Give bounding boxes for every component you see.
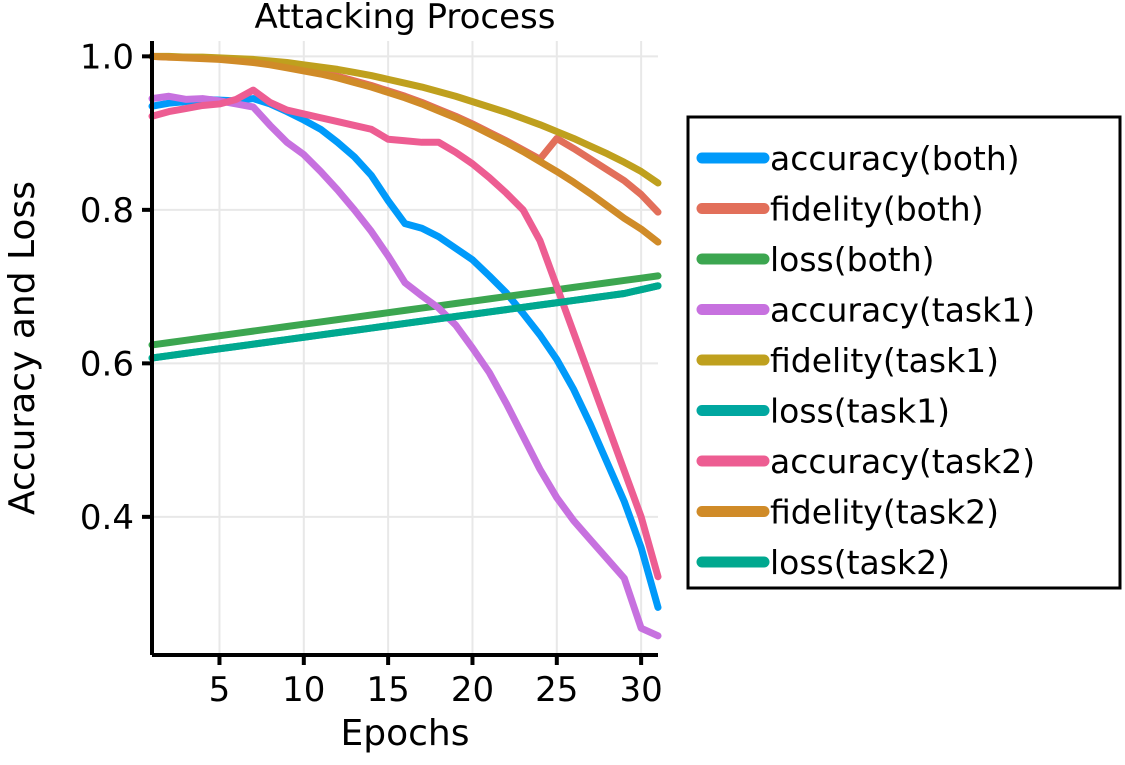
- legend-label: fidelity(task2): [770, 493, 999, 532]
- y-tick-label: 0.4: [80, 498, 134, 538]
- x-tick-label: 20: [451, 670, 494, 710]
- y-tick-label: 0.6: [80, 344, 134, 384]
- x-tick-label: 30: [620, 670, 663, 710]
- legend-label: fidelity(both): [770, 190, 984, 229]
- legend: accuracy(both)fidelity(both)loss(both)ac…: [688, 117, 1120, 588]
- x-tick-label: 5: [209, 670, 231, 710]
- legend-label: accuracy(task2): [770, 442, 1035, 481]
- legend-label: loss(task1): [770, 392, 950, 431]
- y-tick-label: 0.8: [80, 191, 134, 231]
- legend-label: accuracy(both): [770, 139, 1020, 178]
- chart-figure: Attacking Process 0.40.60.81.0 510152025…: [0, 0, 1125, 765]
- x-tick-label: 15: [367, 670, 410, 710]
- y-axis-label: Accuracy and Loss: [2, 181, 43, 515]
- legend-label: fidelity(task1): [770, 341, 999, 380]
- x-axis-label: Epochs: [341, 713, 470, 754]
- x-tick-label: 25: [535, 670, 578, 710]
- legend-label: accuracy(task1): [770, 291, 1035, 330]
- x-tick-label: 10: [282, 670, 325, 710]
- attacking-process-line-chart: Attacking Process 0.40.60.81.0 510152025…: [0, 0, 1125, 765]
- legend-label: loss(task2): [770, 543, 950, 582]
- chart-title: Attacking Process: [255, 0, 556, 37]
- legend-label: loss(both): [770, 240, 934, 279]
- y-tick-label: 1.0: [80, 37, 134, 77]
